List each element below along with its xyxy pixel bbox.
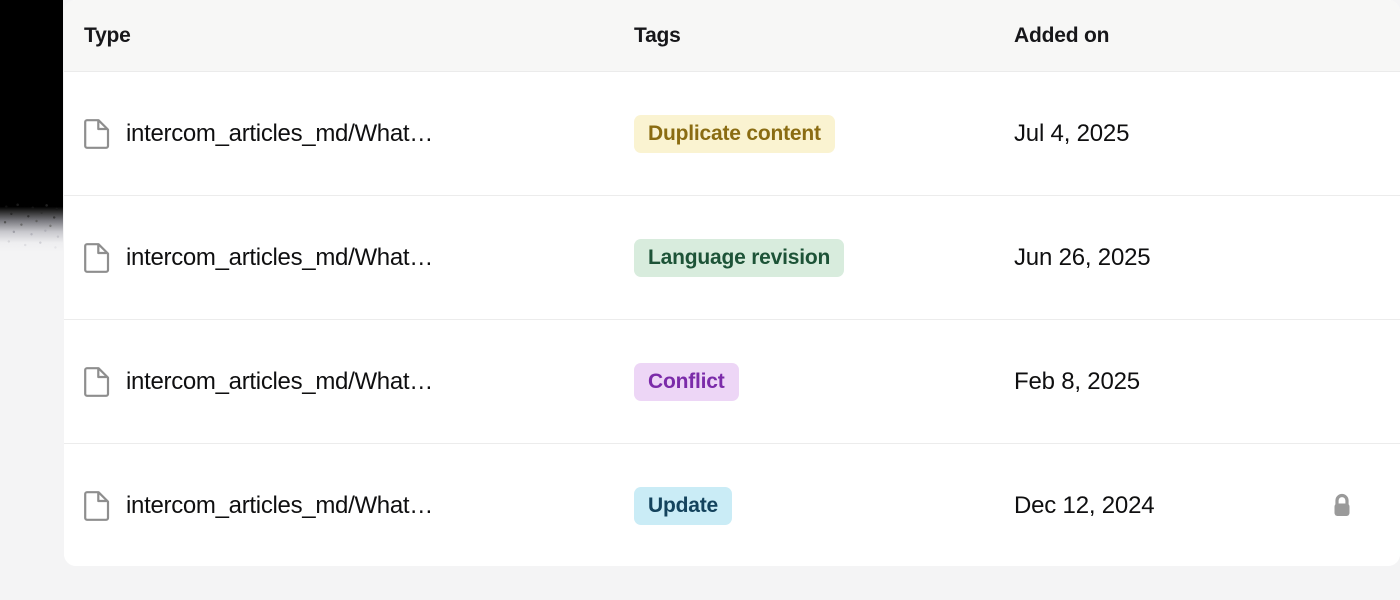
document-icon <box>84 119 110 149</box>
cell-tags[interactable]: Duplicate content <box>634 115 1014 153</box>
cell-tags[interactable]: Conflict <box>634 363 1014 401</box>
column-header-tags[interactable]: Tags <box>634 24 1014 48</box>
screen: Type Tags Added on intercom_articles_md/… <box>0 0 1400 600</box>
cell-added-on: Dec 12, 2024 <box>1014 492 1400 520</box>
added-on-date: Feb 8, 2025 <box>1014 368 1140 396</box>
status-badge[interactable]: Update <box>634 487 732 525</box>
status-badge[interactable]: Conflict <box>634 363 739 401</box>
document-icon <box>84 367 110 397</box>
file-name: intercom_articles_md/What… <box>126 120 433 148</box>
document-icon <box>84 243 110 273</box>
added-on-date: Dec 12, 2024 <box>1014 492 1154 520</box>
table-row-2[interactable]: intercom_articles_md/What… Conflict Feb … <box>64 320 1400 444</box>
column-header-added-on-label: Added on <box>1014 24 1109 48</box>
cell-added-on: Jul 4, 2025 <box>1014 120 1400 148</box>
table-row-3[interactable]: intercom_articles_md/What… Update Dec 12… <box>64 444 1400 566</box>
lock-slot <box>1330 244 1354 272</box>
cell-type[interactable]: intercom_articles_md/What… <box>64 119 634 149</box>
cell-added-on: Jun 26, 2025 <box>1014 244 1400 272</box>
documents-table-card: Type Tags Added on intercom_articles_md/… <box>64 0 1400 566</box>
table-body: intercom_articles_md/What… Duplicate con… <box>64 72 1400 566</box>
file-name: intercom_articles_md/What… <box>126 492 433 520</box>
file-name: intercom_articles_md/What… <box>126 244 433 272</box>
cell-type[interactable]: intercom_articles_md/What… <box>64 243 634 273</box>
left-black-band <box>0 0 63 215</box>
status-badge[interactable]: Language revision <box>634 239 844 277</box>
lock-slot <box>1330 120 1354 148</box>
column-header-added-on[interactable]: Added on <box>1014 22 1400 50</box>
status-badge[interactable]: Duplicate content <box>634 115 835 153</box>
cell-tags[interactable]: Language revision <box>634 239 1014 277</box>
header-spacer <box>1330 22 1354 50</box>
lock-icon[interactable] <box>1330 492 1354 520</box>
cell-type[interactable]: intercom_articles_md/What… <box>64 491 634 521</box>
added-on-date: Jun 26, 2025 <box>1014 244 1150 272</box>
cell-tags[interactable]: Update <box>634 487 1014 525</box>
document-icon <box>84 491 110 521</box>
table-row-1[interactable]: intercom_articles_md/What… Language revi… <box>64 196 1400 320</box>
table-header-row: Type Tags Added on <box>64 0 1400 72</box>
left-band-fade <box>0 203 63 263</box>
column-header-type[interactable]: Type <box>64 24 634 48</box>
file-name: intercom_articles_md/What… <box>126 368 433 396</box>
cell-added-on: Feb 8, 2025 <box>1014 368 1400 396</box>
cell-type[interactable]: intercom_articles_md/What… <box>64 367 634 397</box>
added-on-date: Jul 4, 2025 <box>1014 120 1129 148</box>
lock-slot <box>1330 368 1354 396</box>
table-row-0[interactable]: intercom_articles_md/What… Duplicate con… <box>64 72 1400 196</box>
